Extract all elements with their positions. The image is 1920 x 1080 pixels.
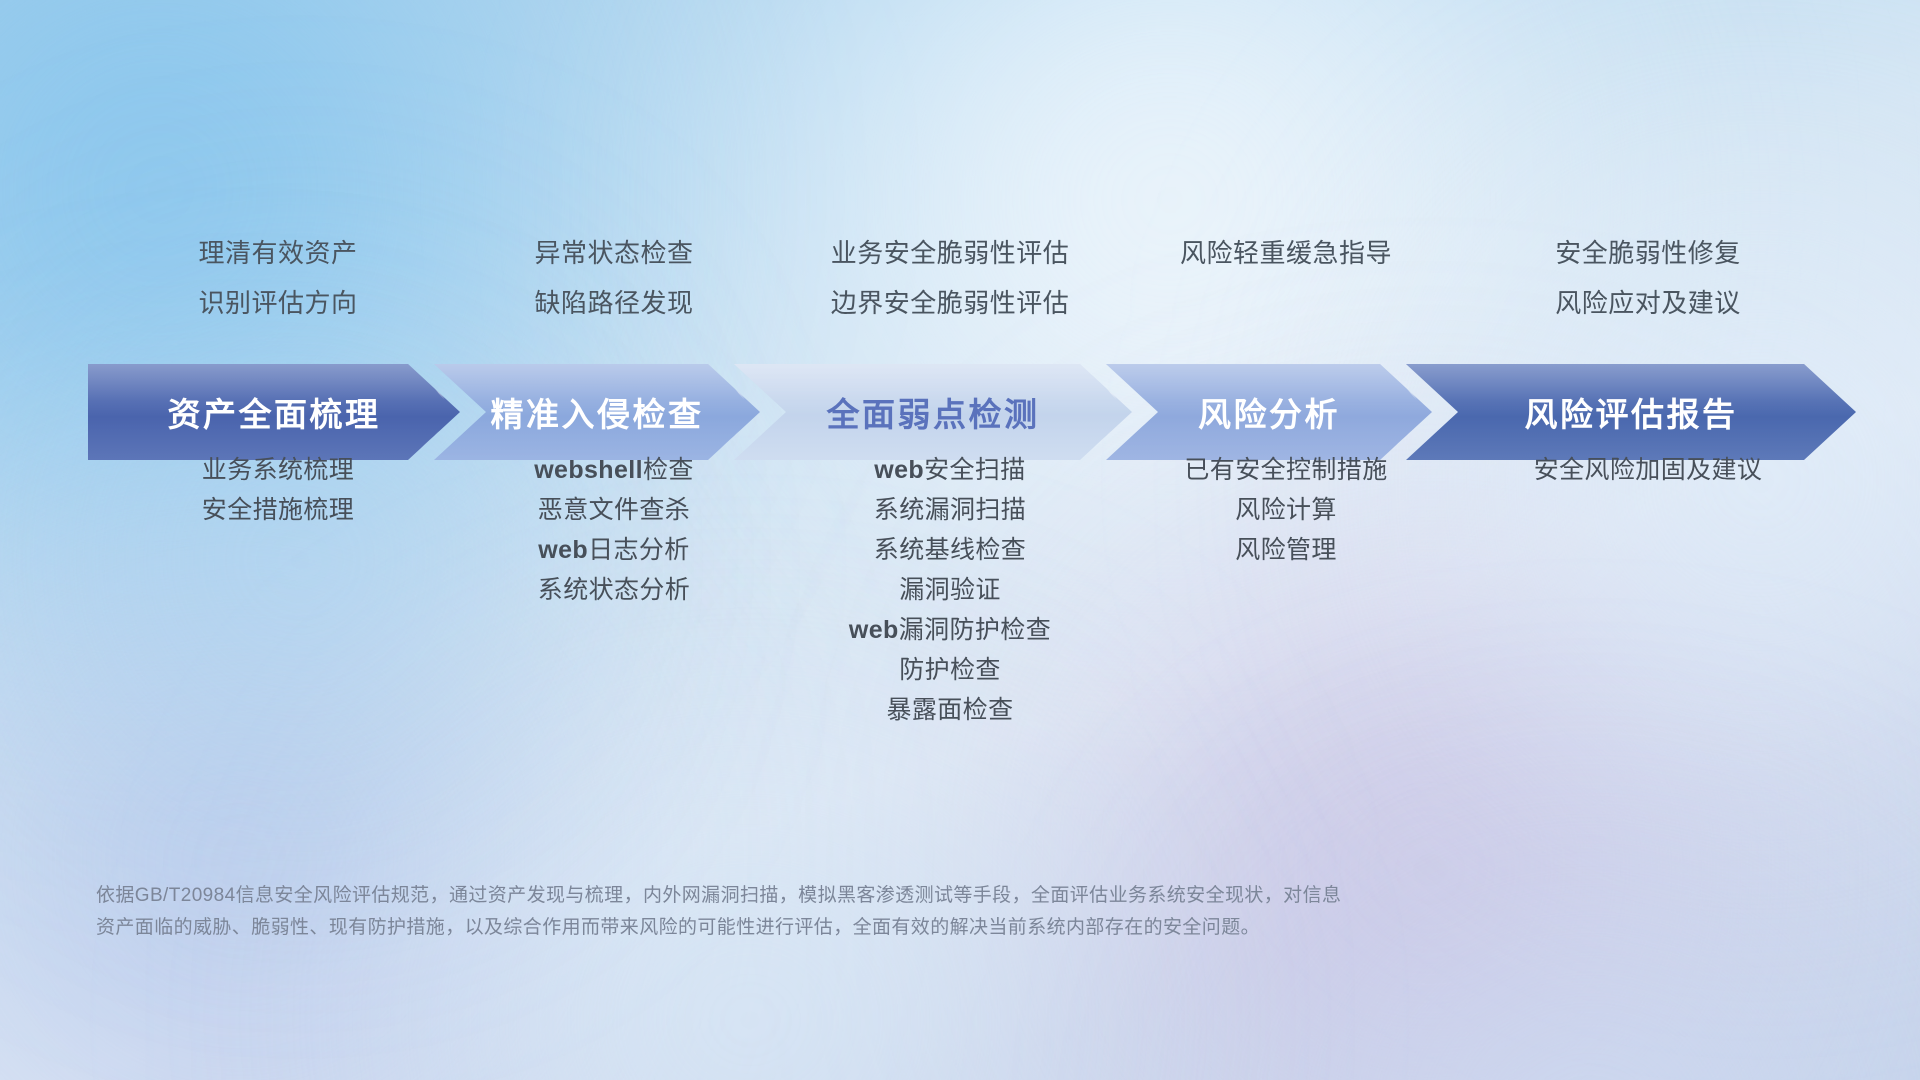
bottom-descriptor-item: 业务系统梳理 [202,450,354,490]
bottom-descriptor-item: 安全措施梳理 [202,490,354,530]
bottom-descriptors-asset-inventory: 业务系统梳理安全措施梳理 [92,450,464,730]
top-descriptor-item: 安全脆弱性修复 [1555,228,1741,278]
bottom-descriptor-item: 恶意文件查杀 [538,490,690,530]
bottom-descriptor-item: 防护检查 [899,650,1001,690]
stage-title-weakness-detection: 全面弱点检测 [827,388,1040,436]
bottom-descriptor-item: 风险计算 [1235,490,1337,530]
bottom-descriptor-item: web漏洞防护检查 [849,610,1051,650]
bottom-descriptor-item: 系统基线检查 [874,530,1026,570]
footer-line-1: 依据GB/T20984信息安全风险评估规范，通过资产发现与梳理，内外网漏洞扫描，… [96,880,1616,912]
footer-description: 依据GB/T20984信息安全风险评估规范，通过资产发现与梳理，内外网漏洞扫描，… [96,880,1616,944]
bottom-descriptors-intrusion-check: webshell检查恶意文件查杀web日志分析系统状态分析 [464,450,764,730]
bottom-descriptor-item: 安全风险加固及建议 [1534,450,1763,490]
stage-title-asset-inventory: 资产全面梳理 [168,388,381,436]
top-descriptors-risk-analysis: 风险轻重缓急指导 [1136,228,1436,328]
stage-title-risk-analysis: 风险分析 [1198,388,1340,436]
bottom-descriptor-item: 已有安全控制措施 [1184,450,1387,490]
stage-chevron-intrusion-check[interactable]: 精准入侵检查 [434,364,760,460]
bottom-descriptor-item: 暴露面检查 [886,690,1013,730]
top-descriptors-asset-inventory: 理清有效资产识别评估方向 [92,228,464,328]
bottom-descriptor-item: 系统漏洞扫描 [874,490,1026,530]
top-descriptor-item: 异常状态检查 [534,228,693,278]
top-descriptors-intrusion-check: 异常状态检查缺陷路径发现 [464,228,764,328]
footer-line-2: 资产面临的威胁、脆弱性、现有防护措施，以及综合作用而带来风险的可能性进行评估，全… [96,912,1616,944]
bottom-descriptor-item: 风险管理 [1235,530,1337,570]
top-descriptor-item: 缺陷路径发现 [534,278,693,328]
bottom-descriptor-item: 漏洞验证 [899,570,1001,610]
bottom-descriptors-risk-analysis: 已有安全控制措施风险计算风险管理 [1136,450,1436,730]
top-descriptor-item: 风险应对及建议 [1555,278,1741,328]
stage-title-risk-report: 风险评估报告 [1525,388,1738,436]
top-descriptor-item: 理清有效资产 [198,228,357,278]
stage-chevron-risk-report[interactable]: 风险评估报告 [1406,364,1856,460]
bottom-descriptor-item: web日志分析 [538,530,689,570]
top-descriptor-item: 识别评估方向 [198,278,357,328]
bottom-descriptor-row: 业务系统梳理安全措施梳理webshell检查恶意文件查杀web日志分析系统状态分… [0,450,1920,730]
top-descriptors-weakness-detection: 业务安全脆弱性评估边界安全脆弱性评估 [764,228,1136,328]
stage-chevron-banner: 资产全面梳理精准入侵检查全面弱点检测风险分析风险评估报告 [88,364,1856,460]
bottom-descriptors-weakness-detection: web安全扫描系统漏洞扫描系统基线检查漏洞验证web漏洞防护检查防护检查暴露面检… [764,450,1136,730]
stage-chevron-weakness-detection[interactable]: 全面弱点检测 [734,364,1132,460]
top-descriptor-item: 边界安全脆弱性评估 [831,278,1070,328]
stage-chevron-risk-analysis[interactable]: 风险分析 [1106,364,1432,460]
bottom-descriptor-item: web安全扫描 [874,450,1025,490]
top-descriptor-row: 理清有效资产识别评估方向异常状态检查缺陷路径发现业务安全脆弱性评估边界安全脆弱性… [0,228,1920,328]
stage-title-intrusion-check: 精准入侵检查 [491,388,704,436]
bottom-descriptor-item: 系统状态分析 [538,570,690,610]
top-descriptors-risk-report: 安全脆弱性修复风险应对及建议 [1436,228,1860,328]
top-descriptor-item: 业务安全脆弱性评估 [831,228,1070,278]
stage-chevron-asset-inventory[interactable]: 资产全面梳理 [88,364,460,460]
bottom-descriptor-item: webshell检查 [534,450,694,490]
process-diagram: 理清有效资产识别评估方向异常状态检查缺陷路径发现业务安全脆弱性评估边界安全脆弱性… [0,0,1920,1080]
bottom-descriptors-risk-report: 安全风险加固及建议 [1436,450,1860,730]
top-descriptor-item: 风险轻重缓急指导 [1180,228,1392,278]
